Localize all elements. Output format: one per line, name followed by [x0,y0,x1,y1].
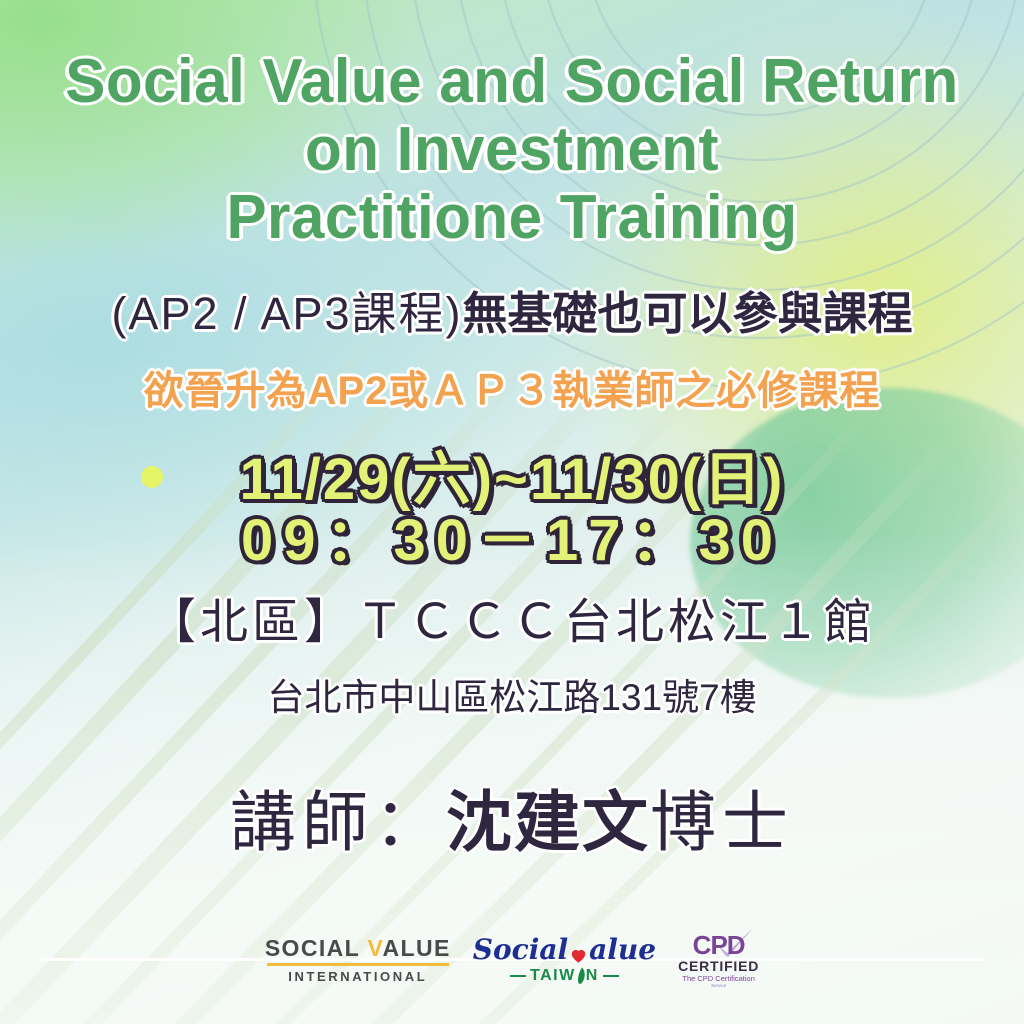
heart-icon [569,942,588,961]
social-value-international-logo: SOCIAL VALUE INTERNATIONAL [265,937,451,983]
social-value-taiwan-logo: Social alue TAIWN [473,935,656,985]
svi-underline [267,963,449,966]
svt-rule-left [510,975,526,977]
svi-letter-v: V [367,935,382,961]
course-eligibility-label: 無基礎也可以參與課程 [463,288,913,339]
poster-canvas: Social Value and Social Return on Invest… [0,0,1024,1024]
instructor-info: 講師：沈建文博士 [0,782,1024,862]
event-venue: 【北區】ＴＣＣＣ台北松江１館 [0,595,1024,651]
svi-tagline: INTERNATIONAL [265,970,451,983]
promo-requirement-line: 欲晉升為AP2或ＡＰ３執業師之必修課程 [0,367,1024,415]
svi-wordmark: SOCIAL VALUE [265,937,451,960]
cpd-service-line-2: Service [678,984,759,989]
event-time: 09：30－17：30 [0,508,1024,574]
svt-taiwan-label: TAIWN [530,967,599,985]
course-level-subtitle: (AP2 / AP3課程)無基礎也可以參與課程 [0,288,1024,340]
taiwan-island-icon [576,967,586,985]
svt-rule-right [603,975,619,977]
instructor-title: 博士 [650,785,794,859]
svi-word-alue: ALUE [383,935,451,961]
title-line-3: Practitione Training [15,184,1008,252]
instructor-name: 沈建文 [446,785,650,859]
title-line-1: Social Value and Social Return [15,48,1008,116]
svt-taiwan-row: TAIWN [473,967,656,985]
svt-word-alue: alue [589,936,656,964]
svi-word-social: SOCIAL [265,935,368,961]
cpd-acronym: CPD [678,932,759,958]
course-code-label: (AP2 / AP3課程) [111,288,462,339]
event-date: 11/29(六)~11/30(日) [0,447,1024,513]
poster-content: Social Value and Social Return on Invest… [0,0,1024,1024]
title-line-2: on Investment [15,116,1008,184]
poster-title: Social Value and Social Return on Invest… [0,48,1024,252]
instructor-label: 講師： [230,785,446,859]
svt-taiwan-after: N [586,968,599,984]
cpd-certified-logo: CPD CERTIFIED The CPD Certification Serv… [678,932,759,988]
svt-word-social: Social [473,936,568,964]
footer-logo-row: SOCIAL VALUE INTERNATIONAL Social alue T… [0,925,1024,995]
svt-wordmark: Social alue [473,936,656,964]
svt-taiwan-before: TAIW [530,968,576,984]
event-address: 台北市中山區松江路131號7樓 [0,675,1024,721]
cpd-service-line-1: The CPD Certification [678,975,759,983]
